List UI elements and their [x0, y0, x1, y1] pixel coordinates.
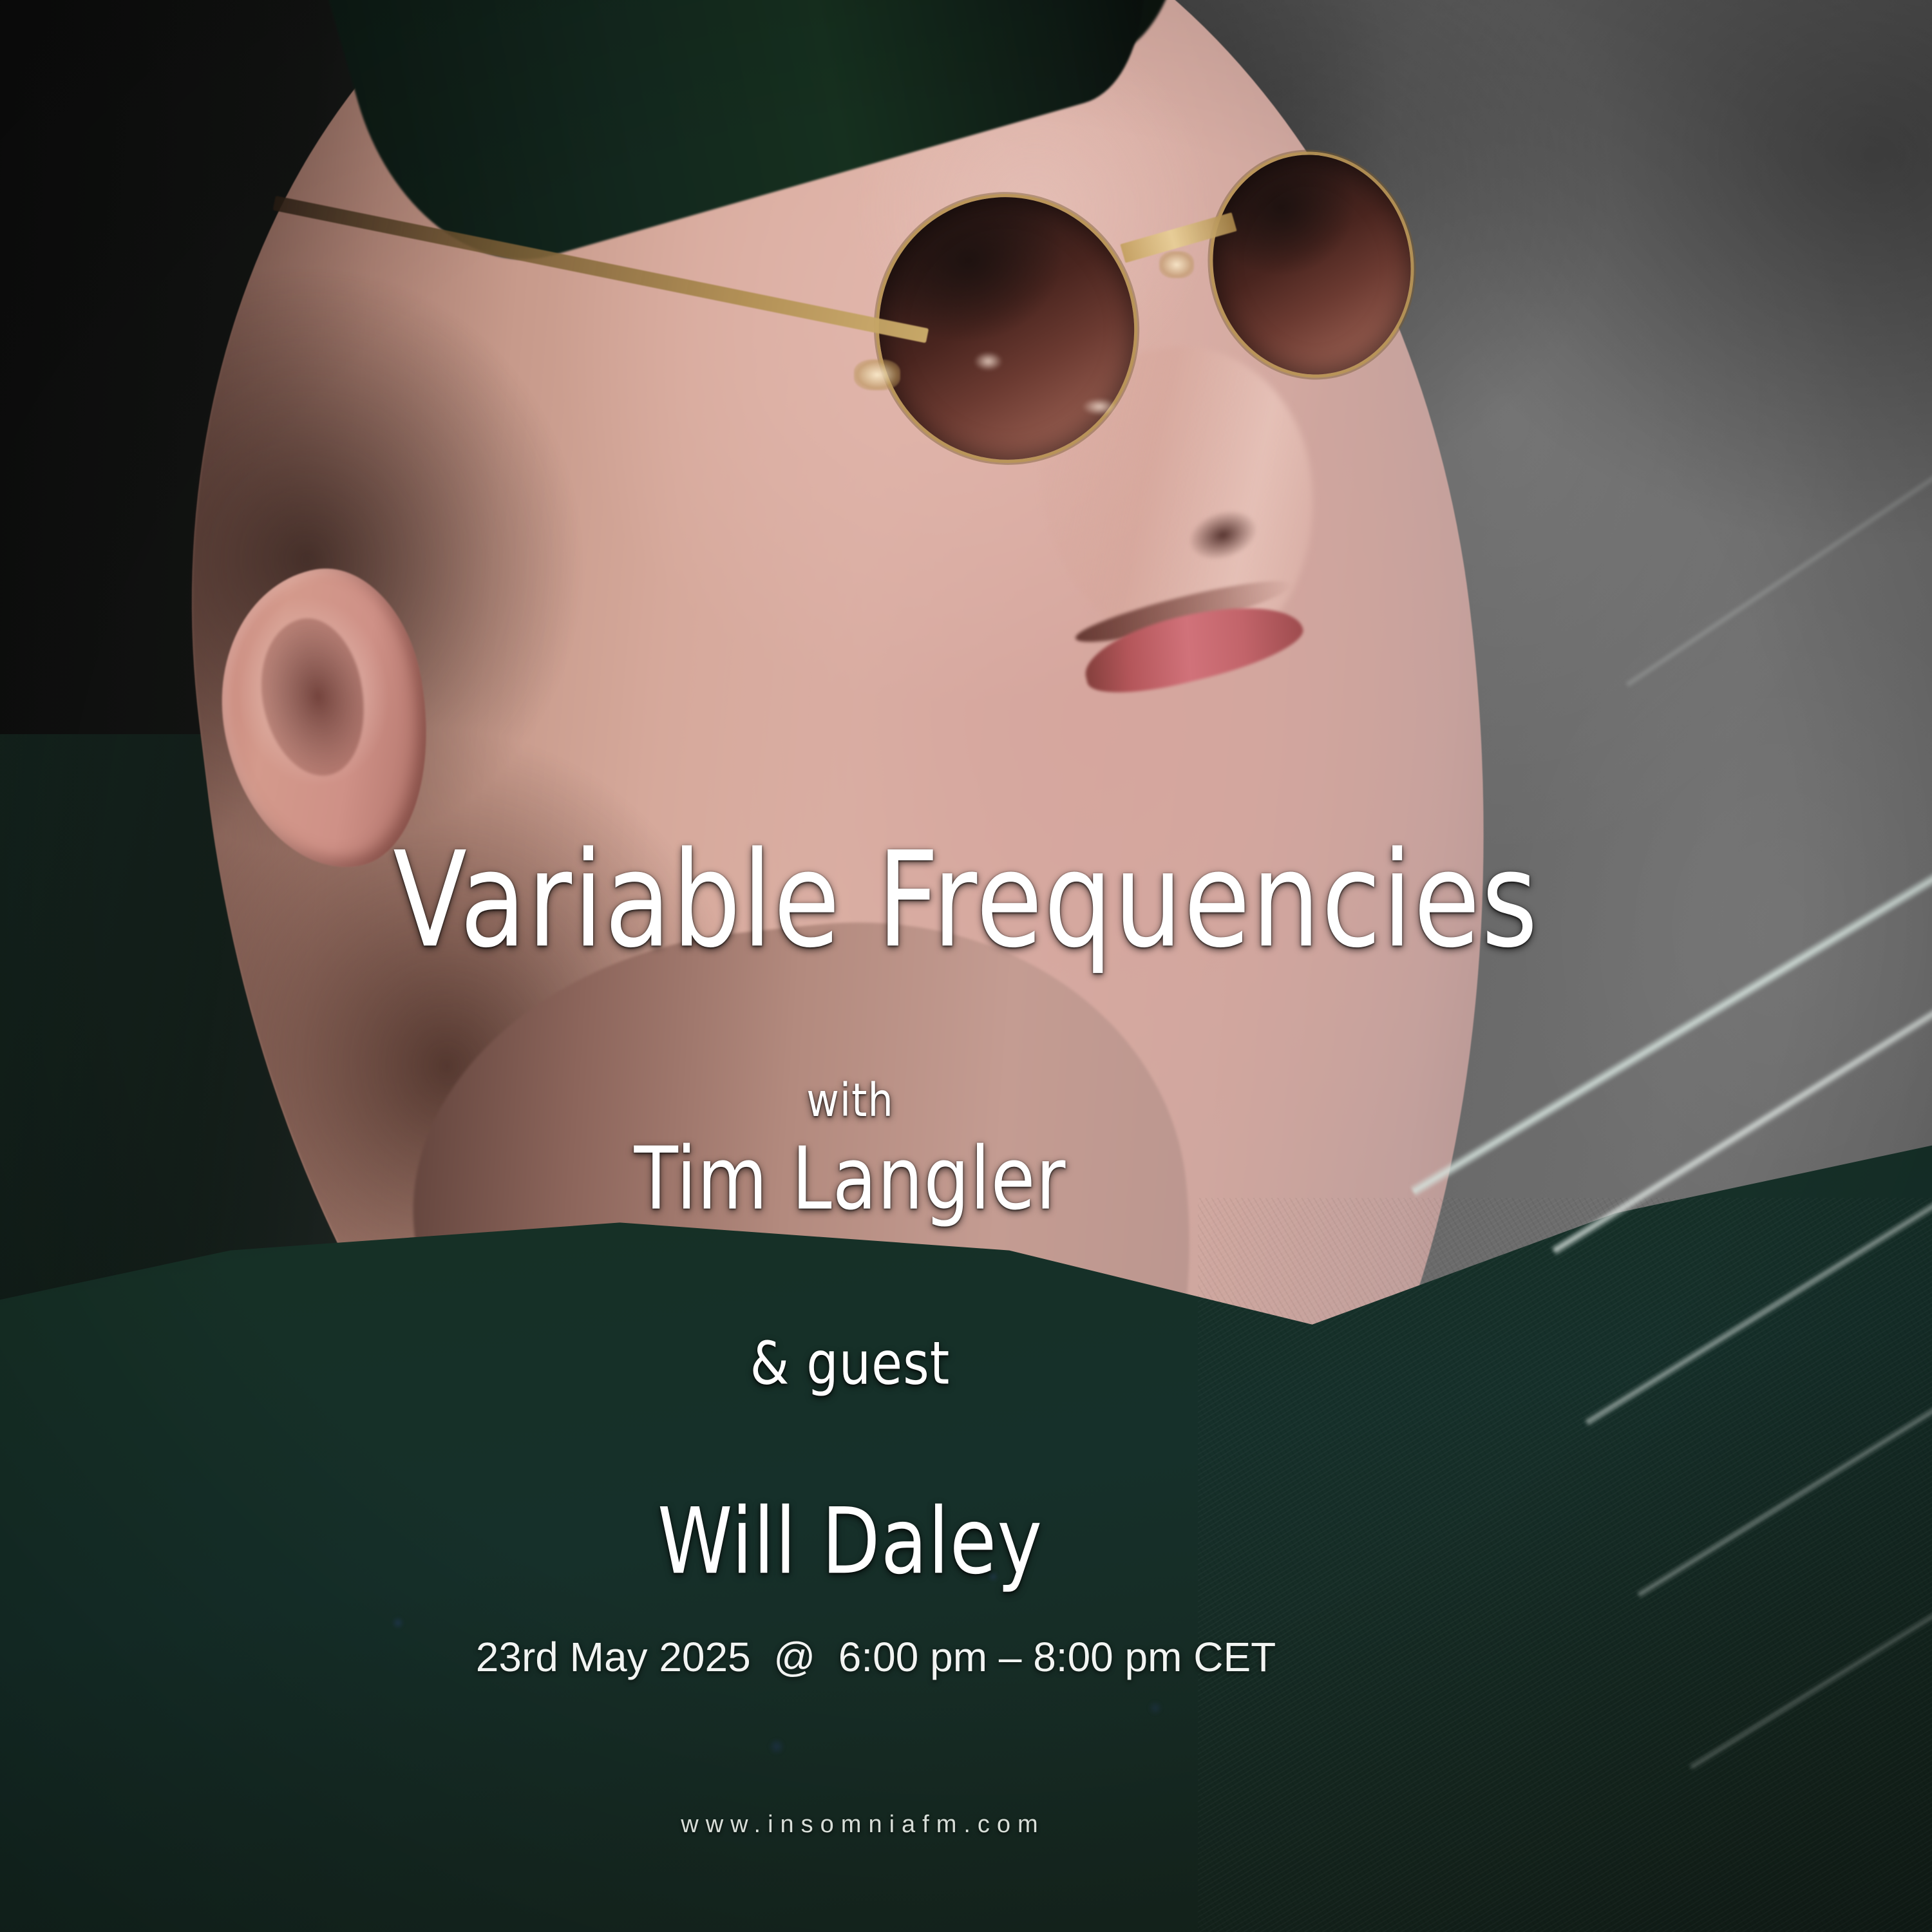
- host-name: Tim Langler: [634, 1129, 1066, 1229]
- event-datetime: 23rd May 2025 @ 6:00 pm – 8:00 pm CET: [476, 1633, 1276, 1681]
- website-url[interactable]: www.insomniafm.com: [681, 1811, 1045, 1839]
- text-overlay: Variable Frequencies with Tim Langler & …: [0, 0, 1932, 1932]
- guest-label: & guest: [750, 1330, 951, 1398]
- show-title: Variable Frequencies: [393, 834, 1539, 966]
- guest-name: Will Daley: [658, 1488, 1043, 1595]
- event-poster: Variable Frequencies with Tim Langler & …: [0, 0, 1932, 1932]
- with-label: with: [806, 1074, 894, 1128]
